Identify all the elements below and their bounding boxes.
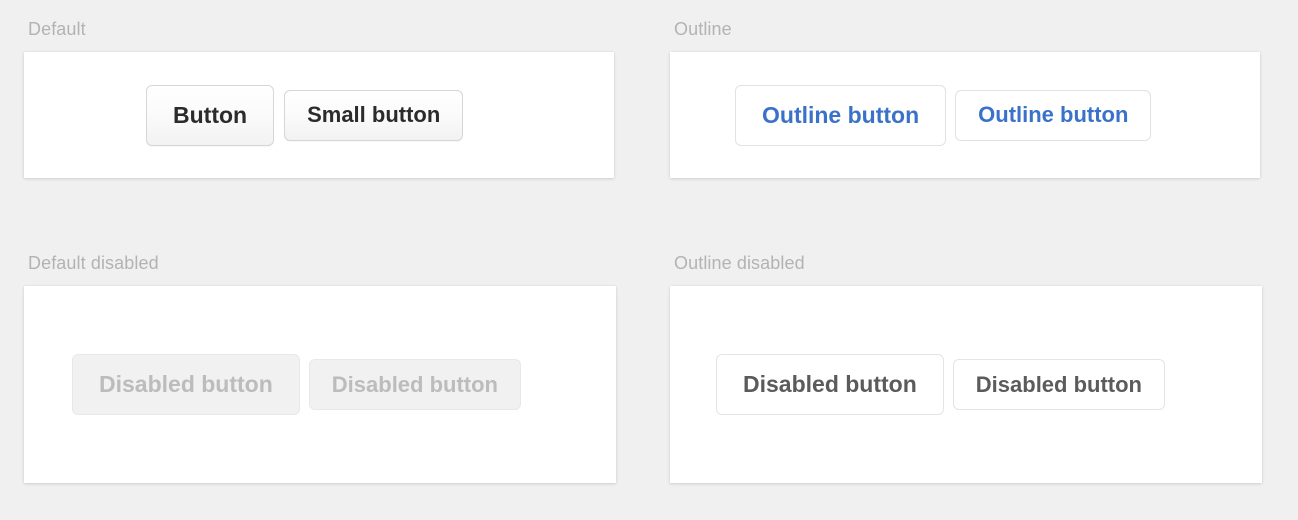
button-group-outline-disabled: Disabled button Disabled button xyxy=(716,354,1165,415)
button-group-default-disabled: Disabled button Disabled button xyxy=(72,354,521,415)
button-group-default: Button Small button xyxy=(146,85,463,146)
section-default: Default Button Small button xyxy=(24,18,614,178)
section-label-default: Default xyxy=(28,18,614,40)
default-button[interactable]: Button xyxy=(146,85,274,146)
section-outline-disabled: Outline disabled Disabled button Disable… xyxy=(670,252,1262,483)
card-outline-disabled: Disabled button Disabled button xyxy=(670,286,1262,483)
section-outline: Outline Outline button Outline button xyxy=(670,18,1260,178)
section-label-default-disabled: Default disabled xyxy=(28,252,616,274)
button-showcase-page: Default Button Small button Outline Outl… xyxy=(0,0,1298,520)
card-default-disabled: Disabled button Disabled button xyxy=(24,286,616,483)
outline-button[interactable]: Outline button xyxy=(735,85,946,146)
outline-disabled-small-button: Disabled button xyxy=(953,359,1165,410)
default-disabled-small-button: Disabled button xyxy=(309,359,521,410)
section-default-disabled: Default disabled Disabled button Disable… xyxy=(24,252,616,483)
button-group-outline: Outline button Outline button xyxy=(735,85,1151,146)
default-small-button[interactable]: Small button xyxy=(284,90,463,141)
outline-small-button[interactable]: Outline button xyxy=(955,90,1151,141)
outline-disabled-button: Disabled button xyxy=(716,354,944,415)
section-label-outline-disabled: Outline disabled xyxy=(674,252,1262,274)
default-disabled-button: Disabled button xyxy=(72,354,300,415)
section-label-outline: Outline xyxy=(674,18,1260,40)
card-outline: Outline button Outline button xyxy=(670,52,1260,178)
card-default: Button Small button xyxy=(24,52,614,178)
